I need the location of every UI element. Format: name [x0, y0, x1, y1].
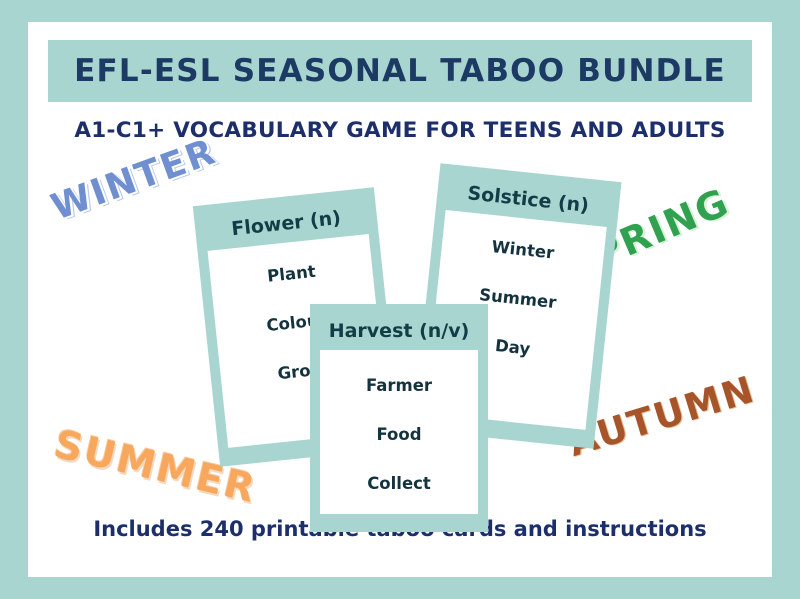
poster: EFL-ESL SEASONAL TABOO BUNDLE A1-C1+ VOC… — [0, 0, 800, 599]
card-word: Plant — [266, 262, 316, 286]
card-word: Farmer — [366, 376, 432, 395]
page-title: EFL-ESL SEASONAL TABOO BUNDLE — [74, 53, 726, 89]
card-word: Food — [376, 425, 421, 444]
card-word: Winter — [491, 237, 555, 262]
card-word: Day — [494, 336, 531, 359]
poster-inner: EFL-ESL SEASONAL TABOO BUNDLE A1-C1+ VOC… — [28, 22, 772, 577]
subtitle: A1-C1+ VOCABULARY GAME FOR TEENS AND ADU… — [28, 118, 772, 143]
card-word: Summer — [478, 285, 557, 312]
title-band: EFL-ESL SEASONAL TABOO BUNDLE — [48, 40, 752, 102]
taboo-card-harvest: Harvest (n/v) Farmer Food Collect — [310, 304, 488, 532]
card-body: Farmer Food Collect — [320, 350, 478, 514]
card-title: Harvest (n/v) — [320, 314, 478, 350]
card-word: Collect — [367, 474, 431, 493]
